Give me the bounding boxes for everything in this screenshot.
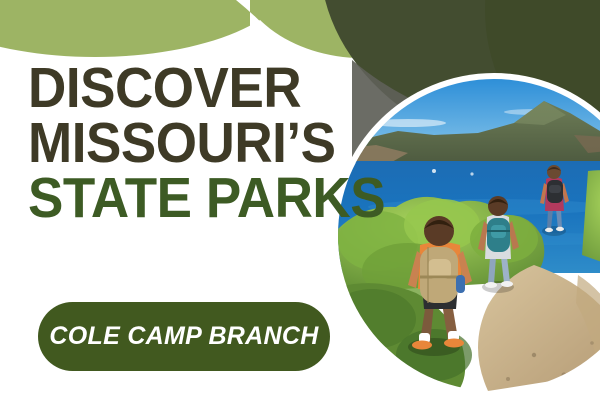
branch-badge-label: COLE CAMP BRANCH (49, 322, 318, 351)
headline-line-3: STATE PARKS (28, 172, 335, 225)
branch-badge[interactable]: COLE CAMP BRANCH (38, 302, 330, 371)
headline-line-2: MISSOURI’S (28, 117, 335, 170)
headline-line-1: DISCOVER (28, 62, 335, 115)
poster-canvas: DISCOVER MISSOURI’S STATE PARKS COLE CAM… (0, 0, 600, 400)
headline-block: DISCOVER MISSOURI’S STATE PARKS (28, 62, 358, 225)
